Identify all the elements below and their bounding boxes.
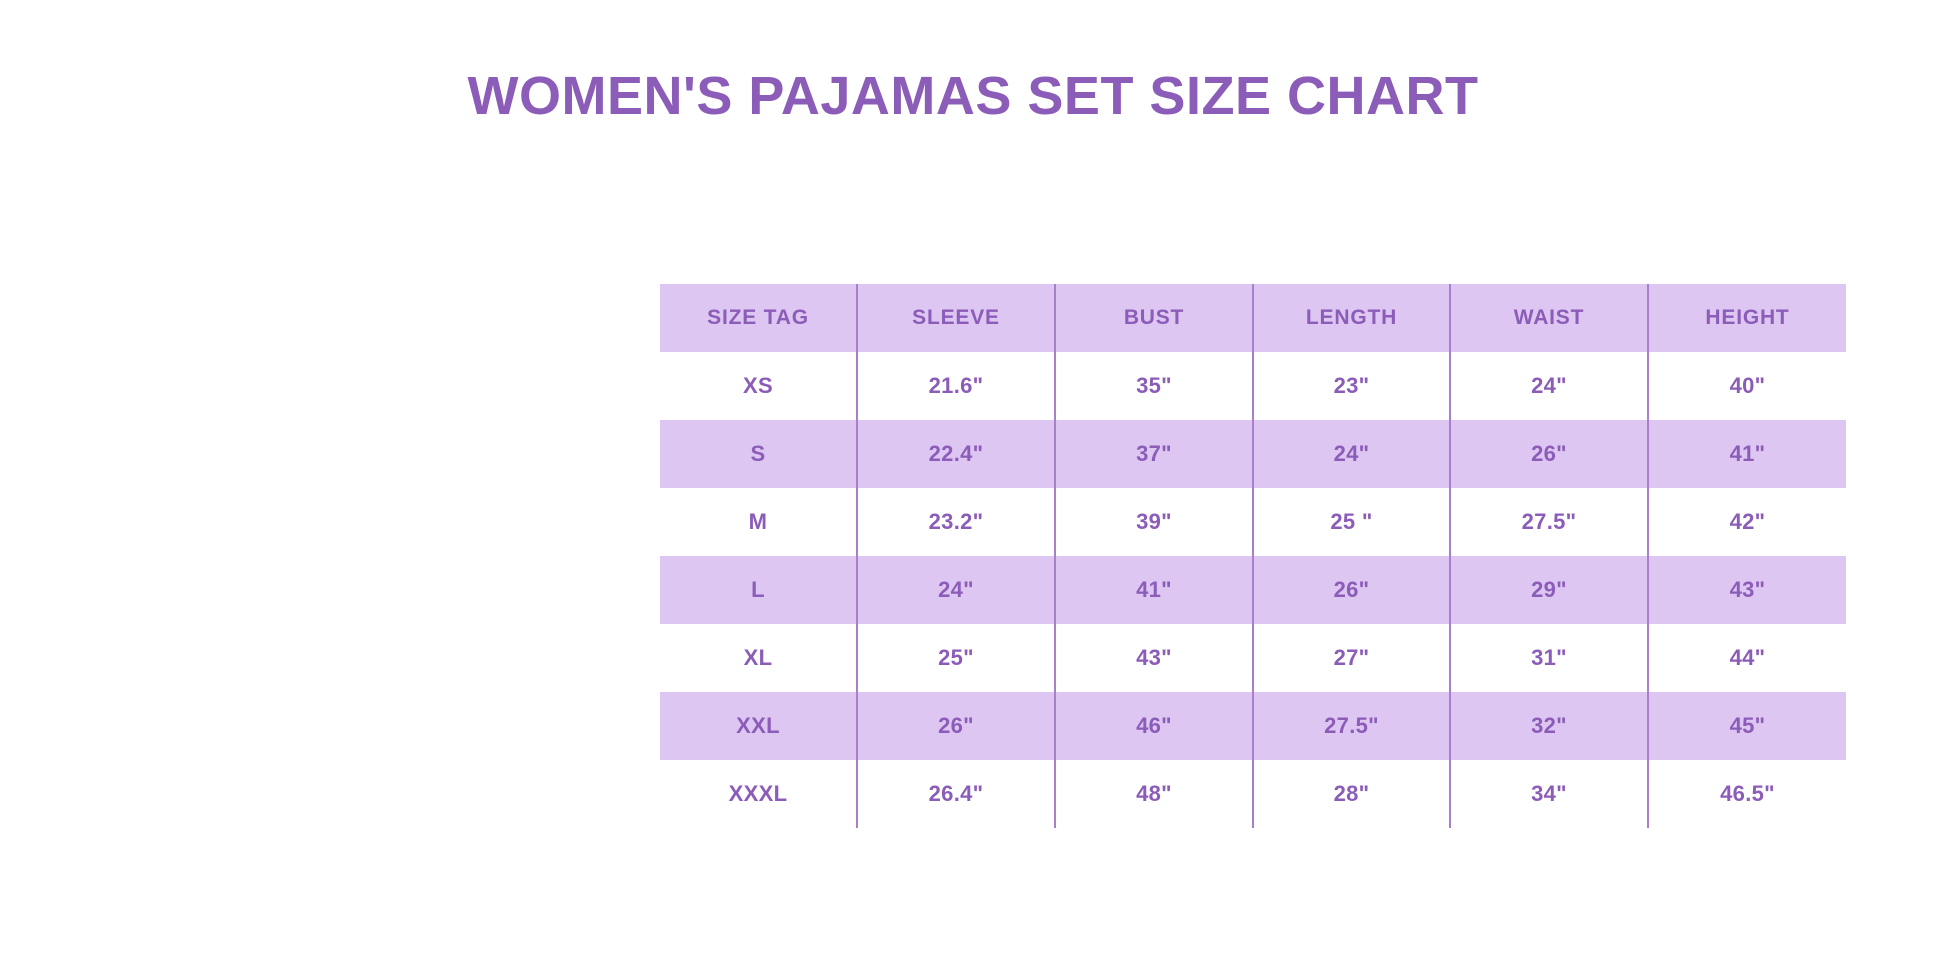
cell-sleeve: 26" [857, 692, 1055, 760]
size-chart-page: WOMEN'S PAJAMAS SET SIZE CHART SIZE TAG … [0, 0, 1946, 973]
cell-bust: 46" [1055, 692, 1253, 760]
cell-height: 46.5" [1648, 760, 1846, 828]
cell-height: 44" [1648, 624, 1846, 692]
cell-length: 26" [1253, 556, 1450, 624]
table-row: M 23.2" 39" 25 " 27.5" 42" [660, 488, 1846, 556]
table-row: XXXL 26.4" 48" 28" 34" 46.5" [660, 760, 1846, 828]
table-header: SIZE TAG SLEEVE BUST LENGTH WAIST HEIGHT [660, 284, 1846, 352]
cell-waist: 27.5" [1450, 488, 1648, 556]
cell-bust: 43" [1055, 624, 1253, 692]
cell-waist: 24" [1450, 352, 1648, 420]
cell-height: 42" [1648, 488, 1846, 556]
cell-sleeve: 23.2" [857, 488, 1055, 556]
cell-bust: 35" [1055, 352, 1253, 420]
cell-sleeve: 24" [857, 556, 1055, 624]
cell-bust: 48" [1055, 760, 1253, 828]
cell-waist: 32" [1450, 692, 1648, 760]
cell-size-tag: XXL [660, 692, 857, 760]
cell-sleeve: 26.4" [857, 760, 1055, 828]
cell-sleeve: 21.6" [857, 352, 1055, 420]
column-header-waist: WAIST [1450, 284, 1648, 352]
size-chart-table: SIZE TAG SLEEVE BUST LENGTH WAIST HEIGHT… [660, 284, 1846, 828]
table-row: XS 21.6" 35" 23" 24" 40" [660, 352, 1846, 420]
cell-waist: 26" [1450, 420, 1648, 488]
column-header-bust: BUST [1055, 284, 1253, 352]
cell-bust: 41" [1055, 556, 1253, 624]
cell-length: 27.5" [1253, 692, 1450, 760]
cell-size-tag: L [660, 556, 857, 624]
table-body: XS 21.6" 35" 23" 24" 40" S 22.4" 37" 24"… [660, 352, 1846, 828]
column-header-size-tag: SIZE TAG [660, 284, 857, 352]
cell-height: 43" [1648, 556, 1846, 624]
cell-sleeve: 25" [857, 624, 1055, 692]
cell-size-tag: S [660, 420, 857, 488]
cell-length: 24" [1253, 420, 1450, 488]
cell-size-tag: M [660, 488, 857, 556]
table-header-row: SIZE TAG SLEEVE BUST LENGTH WAIST HEIGHT [660, 284, 1846, 352]
cell-size-tag: XL [660, 624, 857, 692]
cell-waist: 31" [1450, 624, 1648, 692]
cell-length: 28" [1253, 760, 1450, 828]
cell-waist: 34" [1450, 760, 1648, 828]
cell-waist: 29" [1450, 556, 1648, 624]
column-header-length: LENGTH [1253, 284, 1450, 352]
cell-size-tag: XXXL [660, 760, 857, 828]
size-chart-table-container: SIZE TAG SLEEVE BUST LENGTH WAIST HEIGHT… [660, 284, 1846, 828]
cell-height: 41" [1648, 420, 1846, 488]
cell-bust: 39" [1055, 488, 1253, 556]
cell-height: 45" [1648, 692, 1846, 760]
cell-sleeve: 22.4" [857, 420, 1055, 488]
column-header-sleeve: SLEEVE [857, 284, 1055, 352]
table-row: L 24" 41" 26" 29" 43" [660, 556, 1846, 624]
table-row: S 22.4" 37" 24" 26" 41" [660, 420, 1846, 488]
cell-height: 40" [1648, 352, 1846, 420]
page-title: WOMEN'S PAJAMAS SET SIZE CHART [0, 63, 1946, 129]
cell-bust: 37" [1055, 420, 1253, 488]
cell-size-tag: XS [660, 352, 857, 420]
cell-length: 23" [1253, 352, 1450, 420]
cell-length: 27" [1253, 624, 1450, 692]
table-row: XL 25" 43" 27" 31" 44" [660, 624, 1846, 692]
table-row: XXL 26" 46" 27.5" 32" 45" [660, 692, 1846, 760]
column-header-height: HEIGHT [1648, 284, 1846, 352]
cell-length: 25 " [1253, 488, 1450, 556]
